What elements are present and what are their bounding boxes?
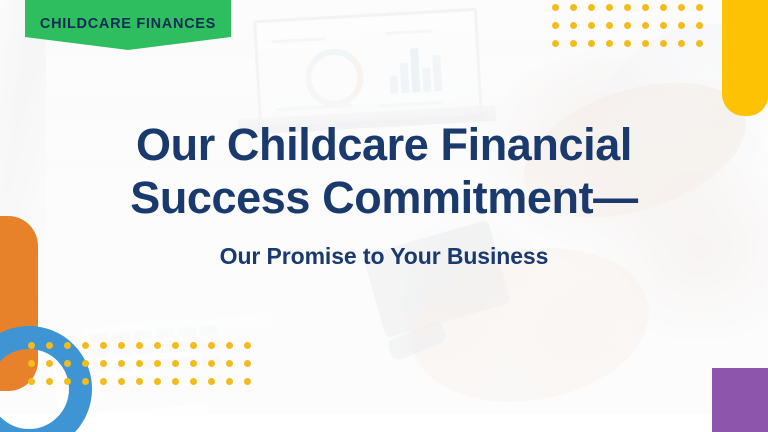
grid-dot bbox=[642, 4, 649, 11]
grid-dot bbox=[136, 378, 143, 385]
grid-dot bbox=[118, 378, 125, 385]
category-tag-label: CHILDCARE FINANCES bbox=[40, 0, 216, 32]
grid-dot bbox=[660, 40, 667, 47]
bottom-white-band bbox=[0, 414, 768, 432]
grid-dot bbox=[28, 378, 35, 385]
grid-dot bbox=[154, 360, 161, 367]
grid-dot bbox=[190, 360, 197, 367]
grid-dot bbox=[552, 40, 559, 47]
grid-dot bbox=[696, 40, 703, 47]
grid-dot bbox=[82, 378, 89, 385]
grid-dot bbox=[570, 22, 577, 29]
grid-dot bbox=[28, 342, 35, 349]
grid-dot bbox=[642, 22, 649, 29]
grid-dot bbox=[552, 4, 559, 11]
grid-dot bbox=[208, 378, 215, 385]
grid-dot bbox=[64, 342, 71, 349]
grid-dot bbox=[588, 22, 595, 29]
grid-dot bbox=[624, 40, 631, 47]
grid-dot bbox=[244, 360, 251, 367]
grid-dot bbox=[64, 360, 71, 367]
page-subtitle: Our Promise to Your Business bbox=[0, 242, 768, 270]
grid-dot bbox=[606, 22, 613, 29]
grid-dot bbox=[46, 342, 53, 349]
dot-grid-top-right bbox=[552, 4, 714, 58]
grid-dot bbox=[172, 342, 179, 349]
grid-dot bbox=[570, 4, 577, 11]
grid-dot bbox=[696, 4, 703, 11]
grid-dot bbox=[226, 378, 233, 385]
grid-dot bbox=[154, 378, 161, 385]
grid-dot bbox=[624, 22, 631, 29]
purple-square bbox=[712, 368, 768, 432]
grid-dot bbox=[208, 342, 215, 349]
grid-dot bbox=[552, 22, 559, 29]
grid-dot bbox=[624, 4, 631, 11]
headline-line-1: Our Childcare Financial bbox=[136, 119, 632, 170]
grid-dot bbox=[46, 378, 53, 385]
grid-dot bbox=[136, 342, 143, 349]
grid-dot bbox=[226, 360, 233, 367]
grid-dot bbox=[606, 40, 613, 47]
headline-block: Our Childcare Financial Success Commitme… bbox=[0, 118, 768, 270]
grid-dot bbox=[46, 360, 53, 367]
grid-dot bbox=[606, 4, 613, 11]
grid-dot bbox=[190, 378, 197, 385]
grid-dot bbox=[678, 40, 685, 47]
grid-dot bbox=[678, 22, 685, 29]
grid-dot bbox=[642, 40, 649, 47]
grid-dot bbox=[100, 360, 107, 367]
grid-dot bbox=[82, 342, 89, 349]
grid-dot bbox=[208, 360, 215, 367]
grid-dot bbox=[100, 378, 107, 385]
dot-grid-bottom-left bbox=[28, 342, 262, 396]
grid-dot bbox=[100, 342, 107, 349]
grid-dot bbox=[64, 378, 71, 385]
grid-dot bbox=[244, 378, 251, 385]
grid-dot bbox=[154, 342, 161, 349]
grid-dot bbox=[696, 22, 703, 29]
grid-dot bbox=[660, 22, 667, 29]
grid-dot bbox=[244, 342, 251, 349]
grid-dot bbox=[118, 360, 125, 367]
page-title: Our Childcare Financial Success Commitme… bbox=[0, 118, 768, 224]
headline-line-2: Success Commitment— bbox=[130, 172, 638, 223]
grid-dot bbox=[190, 342, 197, 349]
banner-canvas: CHILDCARE FINANCES Our Childcare Financi… bbox=[0, 0, 768, 432]
grid-dot bbox=[588, 40, 595, 47]
grid-dot bbox=[172, 360, 179, 367]
grid-dot bbox=[136, 360, 143, 367]
grid-dot bbox=[28, 360, 35, 367]
grid-dot bbox=[226, 342, 233, 349]
grid-dot bbox=[660, 4, 667, 11]
grid-dot bbox=[678, 4, 685, 11]
grid-dot bbox=[172, 378, 179, 385]
grid-dot bbox=[82, 360, 89, 367]
grid-dot bbox=[570, 40, 577, 47]
grid-dot bbox=[118, 342, 125, 349]
yellow-rounded-rect bbox=[722, 0, 768, 116]
grid-dot bbox=[588, 4, 595, 11]
